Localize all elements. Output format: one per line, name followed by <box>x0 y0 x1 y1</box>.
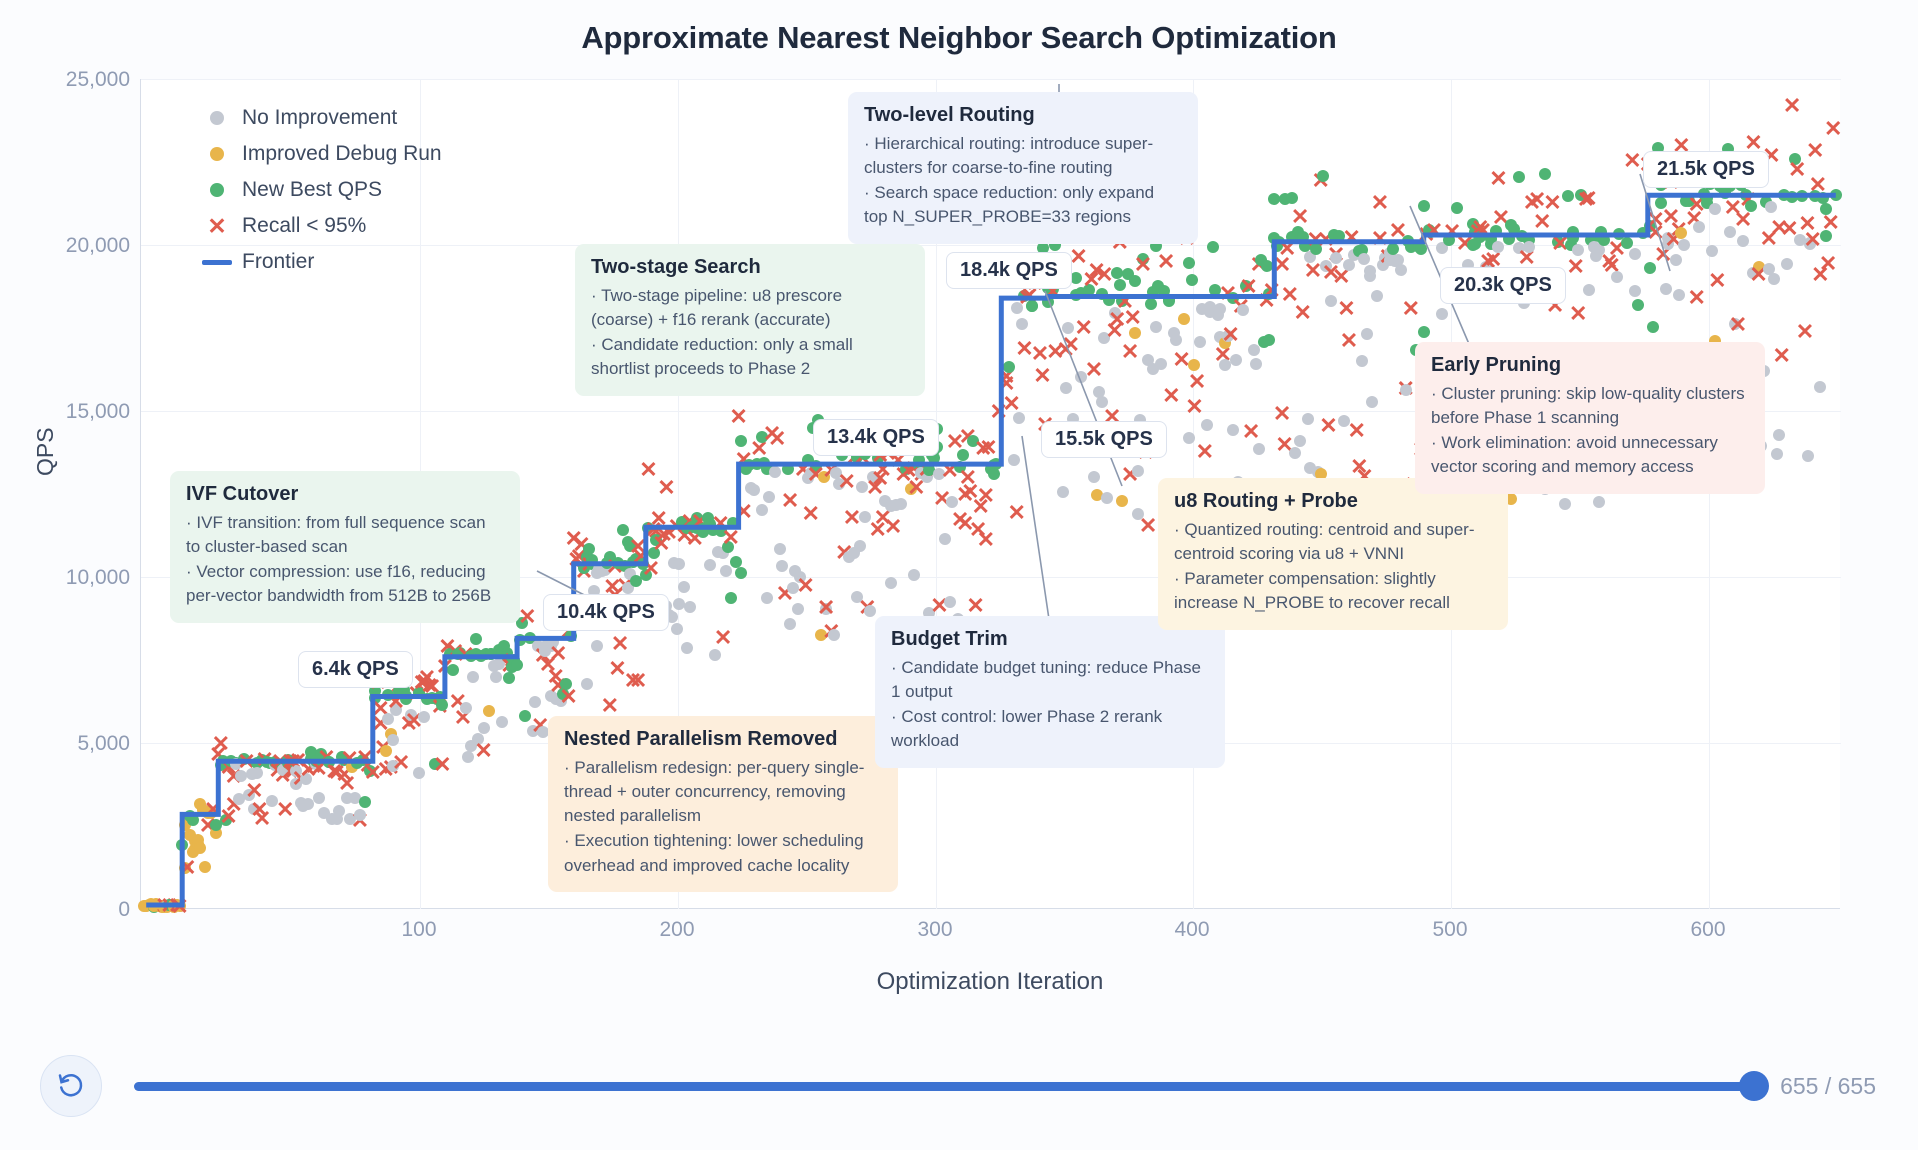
data-point-improved-debug <box>199 861 211 873</box>
data-point-new-best <box>957 449 969 461</box>
data-point-recall-fail: ✕ <box>1822 118 1844 140</box>
data-point-no-improvement <box>1194 336 1206 348</box>
data-point-new-best <box>1701 192 1713 204</box>
data-point-recall-fail: ✕ <box>169 896 191 918</box>
annotation-u8-routing-probe: u8 Routing + Probe · Quantized routing: … <box>1158 478 1508 630</box>
data-point-no-improvement <box>1248 344 1260 356</box>
data-point-no-improvement <box>1302 413 1314 425</box>
x-axis-label: Optimization Iteration <box>140 968 1840 996</box>
data-point-no-improvement <box>1781 258 1793 270</box>
data-point-recall-fail: ✕ <box>1781 95 1803 117</box>
data-point-recall-fail: ✕ <box>1292 302 1314 324</box>
annotation-two-stage-search: Two-stage Search · Two-stage pipeline: u… <box>575 244 925 396</box>
data-point-recall-fail: ✕ <box>640 558 662 580</box>
data-point-recall-fail: ✕ <box>1369 192 1391 214</box>
data-point-new-best <box>511 659 523 671</box>
data-point-no-improvement <box>1227 424 1239 436</box>
data-point-no-improvement <box>1343 259 1355 271</box>
y-tick: 25,000 <box>10 68 130 92</box>
annotation-bullet: · Cluster pruning: skip low-quality clus… <box>1431 382 1749 430</box>
data-point-no-improvement <box>1629 285 1641 297</box>
data-point-recall-fail: ✕ <box>1317 415 1339 437</box>
chart-card: Approximate Nearest Neighbor Search Opti… <box>10 6 1908 1016</box>
milestone-badge-6-4k: 6.4k QPS <box>298 651 413 688</box>
data-point-recall-fail: ✕ <box>815 597 837 619</box>
data-point-recall-fail: ✕ <box>390 752 412 774</box>
data-point-recall-fail: ✕ <box>274 799 296 821</box>
data-point-no-improvement <box>1706 245 1718 257</box>
data-point-recall-fail: ✕ <box>1820 212 1842 234</box>
data-point-recall-fail: ✕ <box>1804 140 1826 162</box>
data-point-recall-fail: ✕ <box>1032 365 1054 387</box>
data-point-new-best <box>990 458 1002 470</box>
data-point-recall-fail: ✕ <box>977 437 999 459</box>
data-point-no-improvement <box>1670 254 1682 266</box>
data-point-no-improvement <box>784 618 796 630</box>
data-point-recall-fail: ✕ <box>627 670 649 692</box>
data-point-recall-fail: ✕ <box>1686 287 1708 309</box>
data-point-new-best <box>1145 298 1157 310</box>
annotation-budget-trim: Budget Trim · Candidate budget tuning: r… <box>875 616 1225 768</box>
data-point-new-best <box>725 592 737 604</box>
data-point-no-improvement <box>591 640 603 652</box>
annotation-two-level-routing: Two-level Routing · Hierarchical routing… <box>848 92 1198 244</box>
data-point-recall-fail: ✕ <box>1565 256 1587 278</box>
annotation-bullet: · Hierarchical routing: introduce super-… <box>864 132 1182 180</box>
data-point-no-improvement <box>763 491 775 503</box>
data-point-recall-fail: ✕ <box>1220 324 1242 346</box>
x-tick: 200 <box>617 918 737 942</box>
data-point-no-improvement <box>1013 412 1025 424</box>
data-point-no-improvement <box>1629 248 1641 260</box>
milestone-badge-18-4k: 18.4k QPS <box>946 252 1072 289</box>
playback-controls: 655 / 655 <box>0 1022 1918 1150</box>
data-point-no-improvement <box>1358 253 1370 265</box>
data-point-no-improvement <box>1673 289 1685 301</box>
legend-line-icon <box>200 260 234 265</box>
data-point-no-improvement <box>529 696 541 708</box>
data-point-recall-fail: ✕ <box>1289 206 1311 228</box>
data-point-recall-fail: ✕ <box>1122 307 1144 329</box>
data-point-new-best <box>1562 190 1574 202</box>
annotation-bullet: · Candidate budget tuning: reduce Phase … <box>891 656 1209 704</box>
data-point-no-improvement <box>885 577 897 589</box>
data-point-no-improvement <box>792 603 804 615</box>
data-point-recall-fail: ✕ <box>1817 253 1839 275</box>
data-point-no-improvement <box>1583 284 1595 296</box>
data-point-no-improvement <box>1155 358 1167 370</box>
data-point-improved-debug <box>483 705 495 717</box>
legend-item-improved-debug-run: Improved Debug Run <box>200 136 442 172</box>
annotation-bullet: · Vector compression: use f16, reducing … <box>186 560 504 608</box>
data-point-recall-fail: ✕ <box>1335 298 1357 320</box>
data-point-no-improvement <box>684 601 696 613</box>
data-point-recall-fail: ✕ <box>720 527 742 549</box>
data-point-no-improvement <box>1400 384 1412 396</box>
legend-label: Recall < 95% <box>242 214 366 238</box>
data-point-no-improvement <box>704 559 716 571</box>
data-point-recall-fail: ✕ <box>251 808 273 830</box>
data-point-no-improvement <box>1250 358 1262 370</box>
data-point-recall-fail: ✕ <box>733 501 755 523</box>
x-tick: 300 <box>875 918 995 942</box>
data-point-no-improvement <box>1253 443 1265 455</box>
data-point-recall-fail: ✕ <box>609 633 631 655</box>
data-point-no-improvement <box>1371 290 1383 302</box>
data-point-no-improvement <box>1611 271 1623 283</box>
data-point-new-best <box>1418 326 1430 338</box>
data-point-no-improvement <box>720 565 732 577</box>
annotation-bullet: · Execution tightening: lower scheduling… <box>564 829 882 877</box>
x-tick: 500 <box>1390 918 1510 942</box>
annotation-bullet: · Work elimination: avoid unnecessary ve… <box>1431 431 1749 479</box>
data-point-no-improvement <box>1765 201 1777 213</box>
data-point-recall-fail: ✕ <box>1006 502 1028 524</box>
data-point-no-improvement <box>1773 429 1785 441</box>
data-point-no-improvement <box>1289 447 1301 459</box>
legend-dot-icon <box>200 183 234 197</box>
data-point-recall-fail: ✕ <box>547 643 569 665</box>
data-point-new-best <box>1183 257 1195 269</box>
data-point-new-best <box>1026 300 1038 312</box>
legend-item-frontier: Frontier <box>200 244 442 280</box>
annotation-title: Two-stage Search <box>591 256 909 279</box>
data-point-recall-fail: ✕ <box>712 627 734 649</box>
slider-fill <box>134 1082 1754 1091</box>
milestone-badge-13-4k: 13.4k QPS <box>813 419 939 456</box>
data-point-recall-fail: ✕ <box>1727 314 1749 336</box>
data-point-recall-fail: ✕ <box>1706 270 1728 292</box>
iteration-slider[interactable] <box>134 1068 1754 1104</box>
y-tick: 0 <box>10 898 130 922</box>
annotation-bullet: · Cost control: lower Phase 2 rerank wor… <box>891 705 1209 753</box>
data-point-new-best <box>1286 192 1298 204</box>
rotate-ccw-icon <box>56 1071 86 1101</box>
data-point-new-best <box>1539 168 1551 180</box>
data-point-no-improvement <box>1364 270 1376 282</box>
annotation-bullet: · Candidate reduction: only a small shor… <box>591 333 909 381</box>
data-point-no-improvement <box>944 596 956 608</box>
data-point-no-improvement <box>864 605 876 617</box>
ann-optimization-dashboard: Approximate Nearest Neighbor Search Opti… <box>0 0 1918 1150</box>
y-tick: 5,000 <box>10 732 130 756</box>
data-point-recall-fail: ✕ <box>431 754 453 776</box>
legend-dot-icon <box>200 147 234 161</box>
data-point-new-best <box>1745 200 1757 212</box>
annotation-early-pruning: Early Pruning · Cluster pruning: skip lo… <box>1415 342 1765 494</box>
data-point-no-improvement <box>769 466 781 478</box>
data-point-recall-fail: ✕ <box>975 529 997 551</box>
data-point-no-improvement <box>1356 355 1368 367</box>
iteration-counter: 655 / 655 <box>1780 1073 1876 1100</box>
annotation-title: Two-level Routing <box>864 104 1182 127</box>
data-point-no-improvement <box>1170 334 1182 346</box>
data-point-recall-fail: ✕ <box>1567 303 1589 325</box>
data-point-no-improvement <box>673 558 685 570</box>
data-point-no-improvement <box>1150 321 1162 333</box>
data-point-no-improvement <box>460 702 472 714</box>
data-point-no-improvement <box>1436 308 1448 320</box>
data-point-no-improvement <box>1008 454 1020 466</box>
data-point-recall-fail: ✕ <box>1073 317 1095 339</box>
data-point-no-improvement <box>908 569 920 581</box>
legend-item-no-improvement: No Improvement <box>200 100 442 136</box>
data-point-new-best <box>617 524 629 536</box>
legend-label: No Improvement <box>242 106 397 130</box>
data-point-recall-fail: ✕ <box>836 471 858 493</box>
data-point-recall-fail: ✕ <box>1487 168 1509 190</box>
data-point-recall-fail: ✕ <box>795 575 817 597</box>
data-point-recall-fail: ✕ <box>800 503 822 525</box>
data-point-recall-fail: ✕ <box>779 490 801 512</box>
data-point-recall-fail: ✕ <box>1119 341 1141 363</box>
data-point-no-improvement <box>1361 328 1373 340</box>
y-tick: 15,000 <box>10 400 130 424</box>
data-point-no-improvement <box>1693 221 1705 233</box>
page-title: Approximate Nearest Neighbor Search Opti… <box>10 20 1908 56</box>
annotation-bullet: · Parameter compensation: slightly incre… <box>1174 567 1492 615</box>
data-point-recall-fail: ✕ <box>558 686 580 708</box>
data-point-no-improvement <box>581 678 593 690</box>
legend-item-recall-below-95: ✕ Recall < 95% <box>200 208 442 244</box>
data-point-no-improvement <box>1593 496 1605 508</box>
y-tick: 20,000 <box>10 234 130 258</box>
y-axis-label: QPS <box>32 427 59 476</box>
data-point-new-best <box>1503 233 1515 245</box>
data-point-new-best <box>1513 171 1525 183</box>
data-point-recall-fail: ✕ <box>1338 330 1360 352</box>
data-point-recall-fail: ✕ <box>965 595 987 617</box>
data-point-no-improvement <box>1101 492 1113 504</box>
x-tick: 400 <box>1132 918 1252 942</box>
data-point-recall-fail: ✕ <box>1186 371 1208 393</box>
data-point-improved-debug <box>1178 313 1190 325</box>
data-point-no-improvement <box>678 581 690 593</box>
data-point-recall-fail: ✕ <box>1160 385 1182 407</box>
data-point-recall-fail: ✕ <box>1578 188 1600 210</box>
data-point-no-improvement <box>671 623 683 635</box>
data-point-no-improvement <box>1230 354 1242 366</box>
data-point-recall-fail: ✕ <box>975 485 997 507</box>
slider-thumb[interactable] <box>1739 1071 1769 1101</box>
data-point-recall-fail: ✕ <box>1083 359 1105 381</box>
legend-dot-icon <box>200 111 234 125</box>
data-point-new-best <box>1186 274 1198 286</box>
annotation-body: · Cluster pruning: skip low-quality clus… <box>1431 382 1749 480</box>
data-point-recall-fail: ✕ <box>1183 396 1205 418</box>
data-point-no-improvement <box>776 560 788 572</box>
annotation-title: Budget Trim <box>891 628 1209 651</box>
y-tick: 10,000 <box>10 566 130 590</box>
data-point-recall-fail: ✕ <box>1794 321 1816 343</box>
data-point-new-best <box>1647 321 1659 333</box>
annotation-bullet: · Two-stage pipeline: u8 prescore (coars… <box>591 284 909 332</box>
legend-label: Frontier <box>242 250 314 274</box>
data-point-recall-fail: ✕ <box>728 406 750 428</box>
annotation-bullet: · IVF transition: from full sequence sca… <box>186 511 504 559</box>
data-point-recall-fail: ✕ <box>1194 441 1216 463</box>
data-point-new-best <box>1163 294 1175 306</box>
data-point-recall-fail: ✕ <box>1786 159 1808 181</box>
data-point-recall-fail: ✕ <box>1346 420 1368 442</box>
data-point-no-improvement <box>1132 465 1144 477</box>
data-point-new-best <box>470 633 482 645</box>
data-point-no-improvement <box>1395 264 1407 276</box>
data-point-no-improvement <box>537 726 549 738</box>
data-point-new-best <box>1207 241 1219 253</box>
data-point-no-improvement <box>681 642 693 654</box>
data-point-no-improvement <box>1060 382 1072 394</box>
data-point-no-improvement <box>496 716 508 728</box>
milestone-badge-15-5k: 15.5k QPS <box>1041 421 1167 458</box>
data-point-no-improvement <box>895 498 907 510</box>
data-point-no-improvement <box>1771 448 1783 460</box>
data-point-no-improvement <box>1201 419 1213 431</box>
chart-legend: No Improvement Improved Debug Run New Be… <box>190 94 456 288</box>
data-point-new-best <box>1621 237 1633 249</box>
data-point-no-improvement <box>1678 239 1690 251</box>
milestone-badge-21-5k: 21.5k QPS <box>1643 151 1769 188</box>
data-point-no-improvement <box>478 722 490 734</box>
data-point-no-improvement <box>1330 252 1342 264</box>
data-point-recall-fail: ✕ <box>1132 254 1154 276</box>
data-point-improved-debug <box>1129 327 1141 339</box>
annotation-nested-parallelism-removed: Nested Parallelism Removed · Parallelism… <box>548 716 898 892</box>
annotation-bullet: · Search space reduction: only expand to… <box>864 181 1182 229</box>
reset-button[interactable] <box>40 1055 102 1117</box>
legend-cross-icon: ✕ <box>200 215 234 238</box>
data-point-recall-fail: ✕ <box>766 428 788 450</box>
data-point-no-improvement <box>709 649 721 661</box>
data-point-no-improvement <box>1559 498 1571 510</box>
data-point-recall-fail: ✕ <box>1542 192 1564 214</box>
data-point-new-best <box>1830 189 1842 201</box>
data-point-no-improvement <box>756 504 768 516</box>
data-point-recall-fail: ✕ <box>1771 345 1793 367</box>
data-point-new-best <box>1632 299 1644 311</box>
data-point-no-improvement <box>1088 471 1100 483</box>
data-point-no-improvement <box>854 540 866 552</box>
annotation-body: · Two-stage pipeline: u8 prescore (coars… <box>591 284 909 382</box>
annotation-title: Early Pruning <box>1431 354 1749 377</box>
annotation-title: IVF Cutover <box>186 483 504 506</box>
annotation-body: · Parallelism redesign: per-query single… <box>564 756 882 878</box>
data-point-improved-debug <box>194 842 206 854</box>
annotation-bullet: · Parallelism redesign: per-query single… <box>564 756 882 828</box>
milestone-badge-20-3k: 20.3k QPS <box>1440 267 1566 304</box>
data-point-no-improvement <box>1660 283 1672 295</box>
annotation-bullet: · Quantized routing: centroid and super-… <box>1174 518 1492 566</box>
data-point-no-improvement <box>333 805 345 817</box>
data-point-recall-fail: ✕ <box>210 733 232 755</box>
gridline <box>141 79 1841 80</box>
data-point-no-improvement <box>1768 273 1780 285</box>
annotation-ivf-cutover: IVF Cutover · IVF transition: from full … <box>170 471 520 623</box>
data-point-recall-fail: ✕ <box>1240 421 1262 443</box>
data-point-recall-fail: ✕ <box>1155 251 1177 273</box>
data-point-no-improvement <box>467 671 479 683</box>
data-point-no-improvement <box>413 767 425 779</box>
data-point-recall-fail: ✕ <box>1400 298 1422 320</box>
data-point-no-improvement <box>748 484 760 496</box>
data-point-recall-fail: ✕ <box>882 516 904 538</box>
annotation-body: · Hierarchical routing: introduce super-… <box>864 132 1182 230</box>
data-point-no-improvement <box>1802 450 1814 462</box>
data-point-new-best <box>359 796 371 808</box>
annotation-body: · IVF transition: from full sequence sca… <box>186 511 504 609</box>
annotation-body: · Candidate budget tuning: reduce Phase … <box>891 656 1209 754</box>
data-point-recall-fail: ✕ <box>473 740 495 762</box>
data-point-no-improvement <box>313 792 325 804</box>
data-point-recall-fail: ✕ <box>1271 403 1293 425</box>
annotation-body: · Quantized routing: centroid and super-… <box>1174 518 1492 616</box>
legend-item-new-best-qps: New Best QPS <box>200 172 442 208</box>
data-point-new-best <box>730 556 742 568</box>
data-point-improved-debug <box>1116 495 1128 507</box>
legend-label: New Best QPS <box>242 178 382 202</box>
data-point-no-improvement <box>1814 381 1826 393</box>
data-point-no-improvement <box>939 533 951 545</box>
data-point-recall-fail: ✕ <box>1732 209 1754 231</box>
data-point-recall-fail: ✕ <box>176 857 198 879</box>
data-point-new-best <box>1418 200 1430 212</box>
data-point-no-improvement <box>774 543 786 555</box>
data-point-no-improvement <box>1294 435 1306 447</box>
data-point-no-improvement <box>354 809 366 821</box>
data-point-recall-fail: ✕ <box>1137 515 1159 537</box>
data-point-no-improvement <box>1709 203 1721 215</box>
data-point-new-best <box>735 435 747 447</box>
data-point-new-best <box>1451 202 1463 214</box>
x-tick: 100 <box>359 918 479 942</box>
data-point-no-improvement <box>761 592 773 604</box>
data-point-no-improvement <box>1366 396 1378 408</box>
data-point-new-best <box>1003 361 1015 373</box>
legend-label: Improved Debug Run <box>242 142 442 166</box>
data-point-no-improvement <box>1057 486 1069 498</box>
milestone-badge-10-4k: 10.4k QPS <box>543 594 669 631</box>
annotation-title: Nested Parallelism Removed <box>564 728 882 751</box>
x-tick: 600 <box>1648 918 1768 942</box>
data-point-no-improvement <box>1016 318 1028 330</box>
data-point-new-best <box>1263 334 1275 346</box>
data-point-recall-fail: ✕ <box>655 477 677 499</box>
data-point-recall-fail: ✕ <box>599 695 621 717</box>
